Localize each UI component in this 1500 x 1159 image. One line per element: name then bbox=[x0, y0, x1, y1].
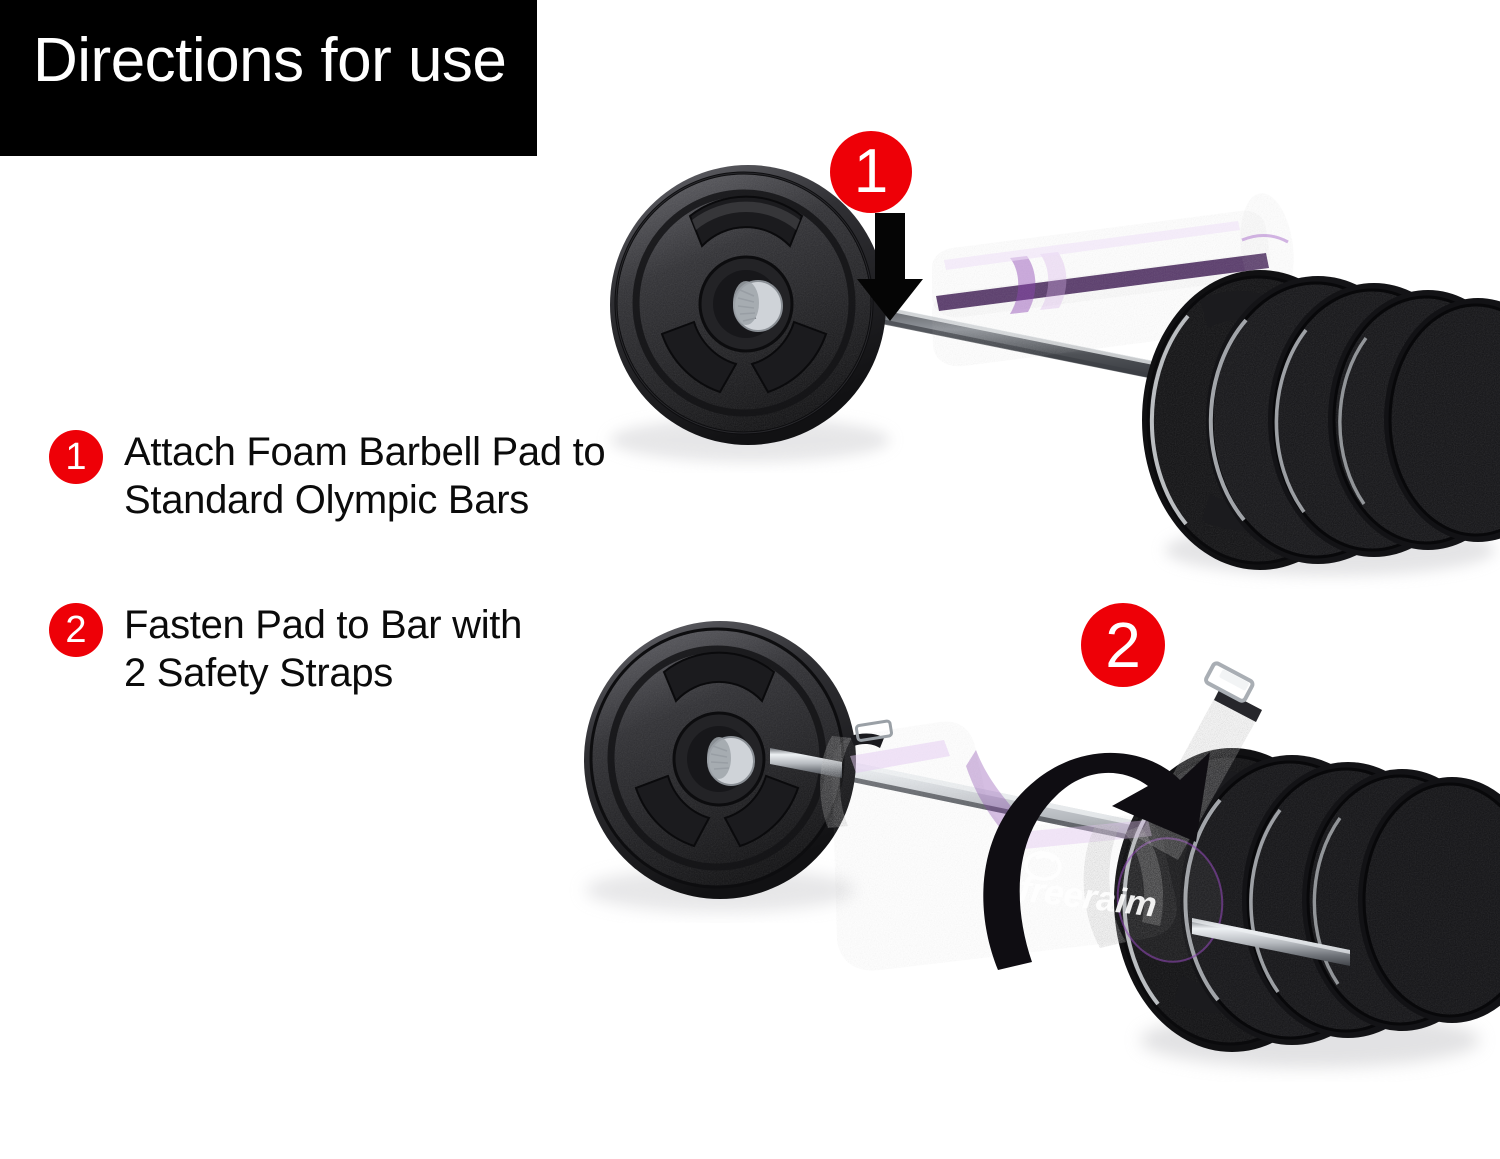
instruction-sheet: 1 bbox=[0, 0, 1500, 1159]
olympic-weight-plate bbox=[610, 165, 886, 445]
step-item-2: 2 Fasten Pad to Bar with 2 Safety Straps bbox=[49, 601, 522, 697]
down-arrow-icon bbox=[855, 213, 925, 323]
header-banner: Directions for use bbox=[0, 0, 537, 156]
step-1-artwork bbox=[540, 120, 1500, 600]
step-item-1: 1 Attach Foam Barbell Pad to Standard Ol… bbox=[49, 428, 605, 524]
strap-buckle-right bbox=[1205, 662, 1254, 702]
step-number-badge-2: 2 bbox=[49, 603, 103, 657]
step-text-1: Attach Foam Barbell Pad to Standard Olym… bbox=[124, 428, 605, 524]
callout-badge-2: 2 bbox=[1081, 603, 1165, 687]
step-text-2: Fasten Pad to Bar with 2 Safety Straps bbox=[124, 601, 522, 697]
weight-plate-stack bbox=[1142, 270, 1500, 570]
step-number-badge-1: 1 bbox=[49, 430, 103, 484]
page-title: Directions for use bbox=[33, 30, 506, 92]
step-1-illustration bbox=[540, 120, 1500, 600]
step-2-illustration: freeraim bbox=[520, 570, 1500, 1130]
callout-badge-1: 1 bbox=[830, 131, 912, 213]
step-2-artwork: freeraim bbox=[520, 570, 1500, 1130]
